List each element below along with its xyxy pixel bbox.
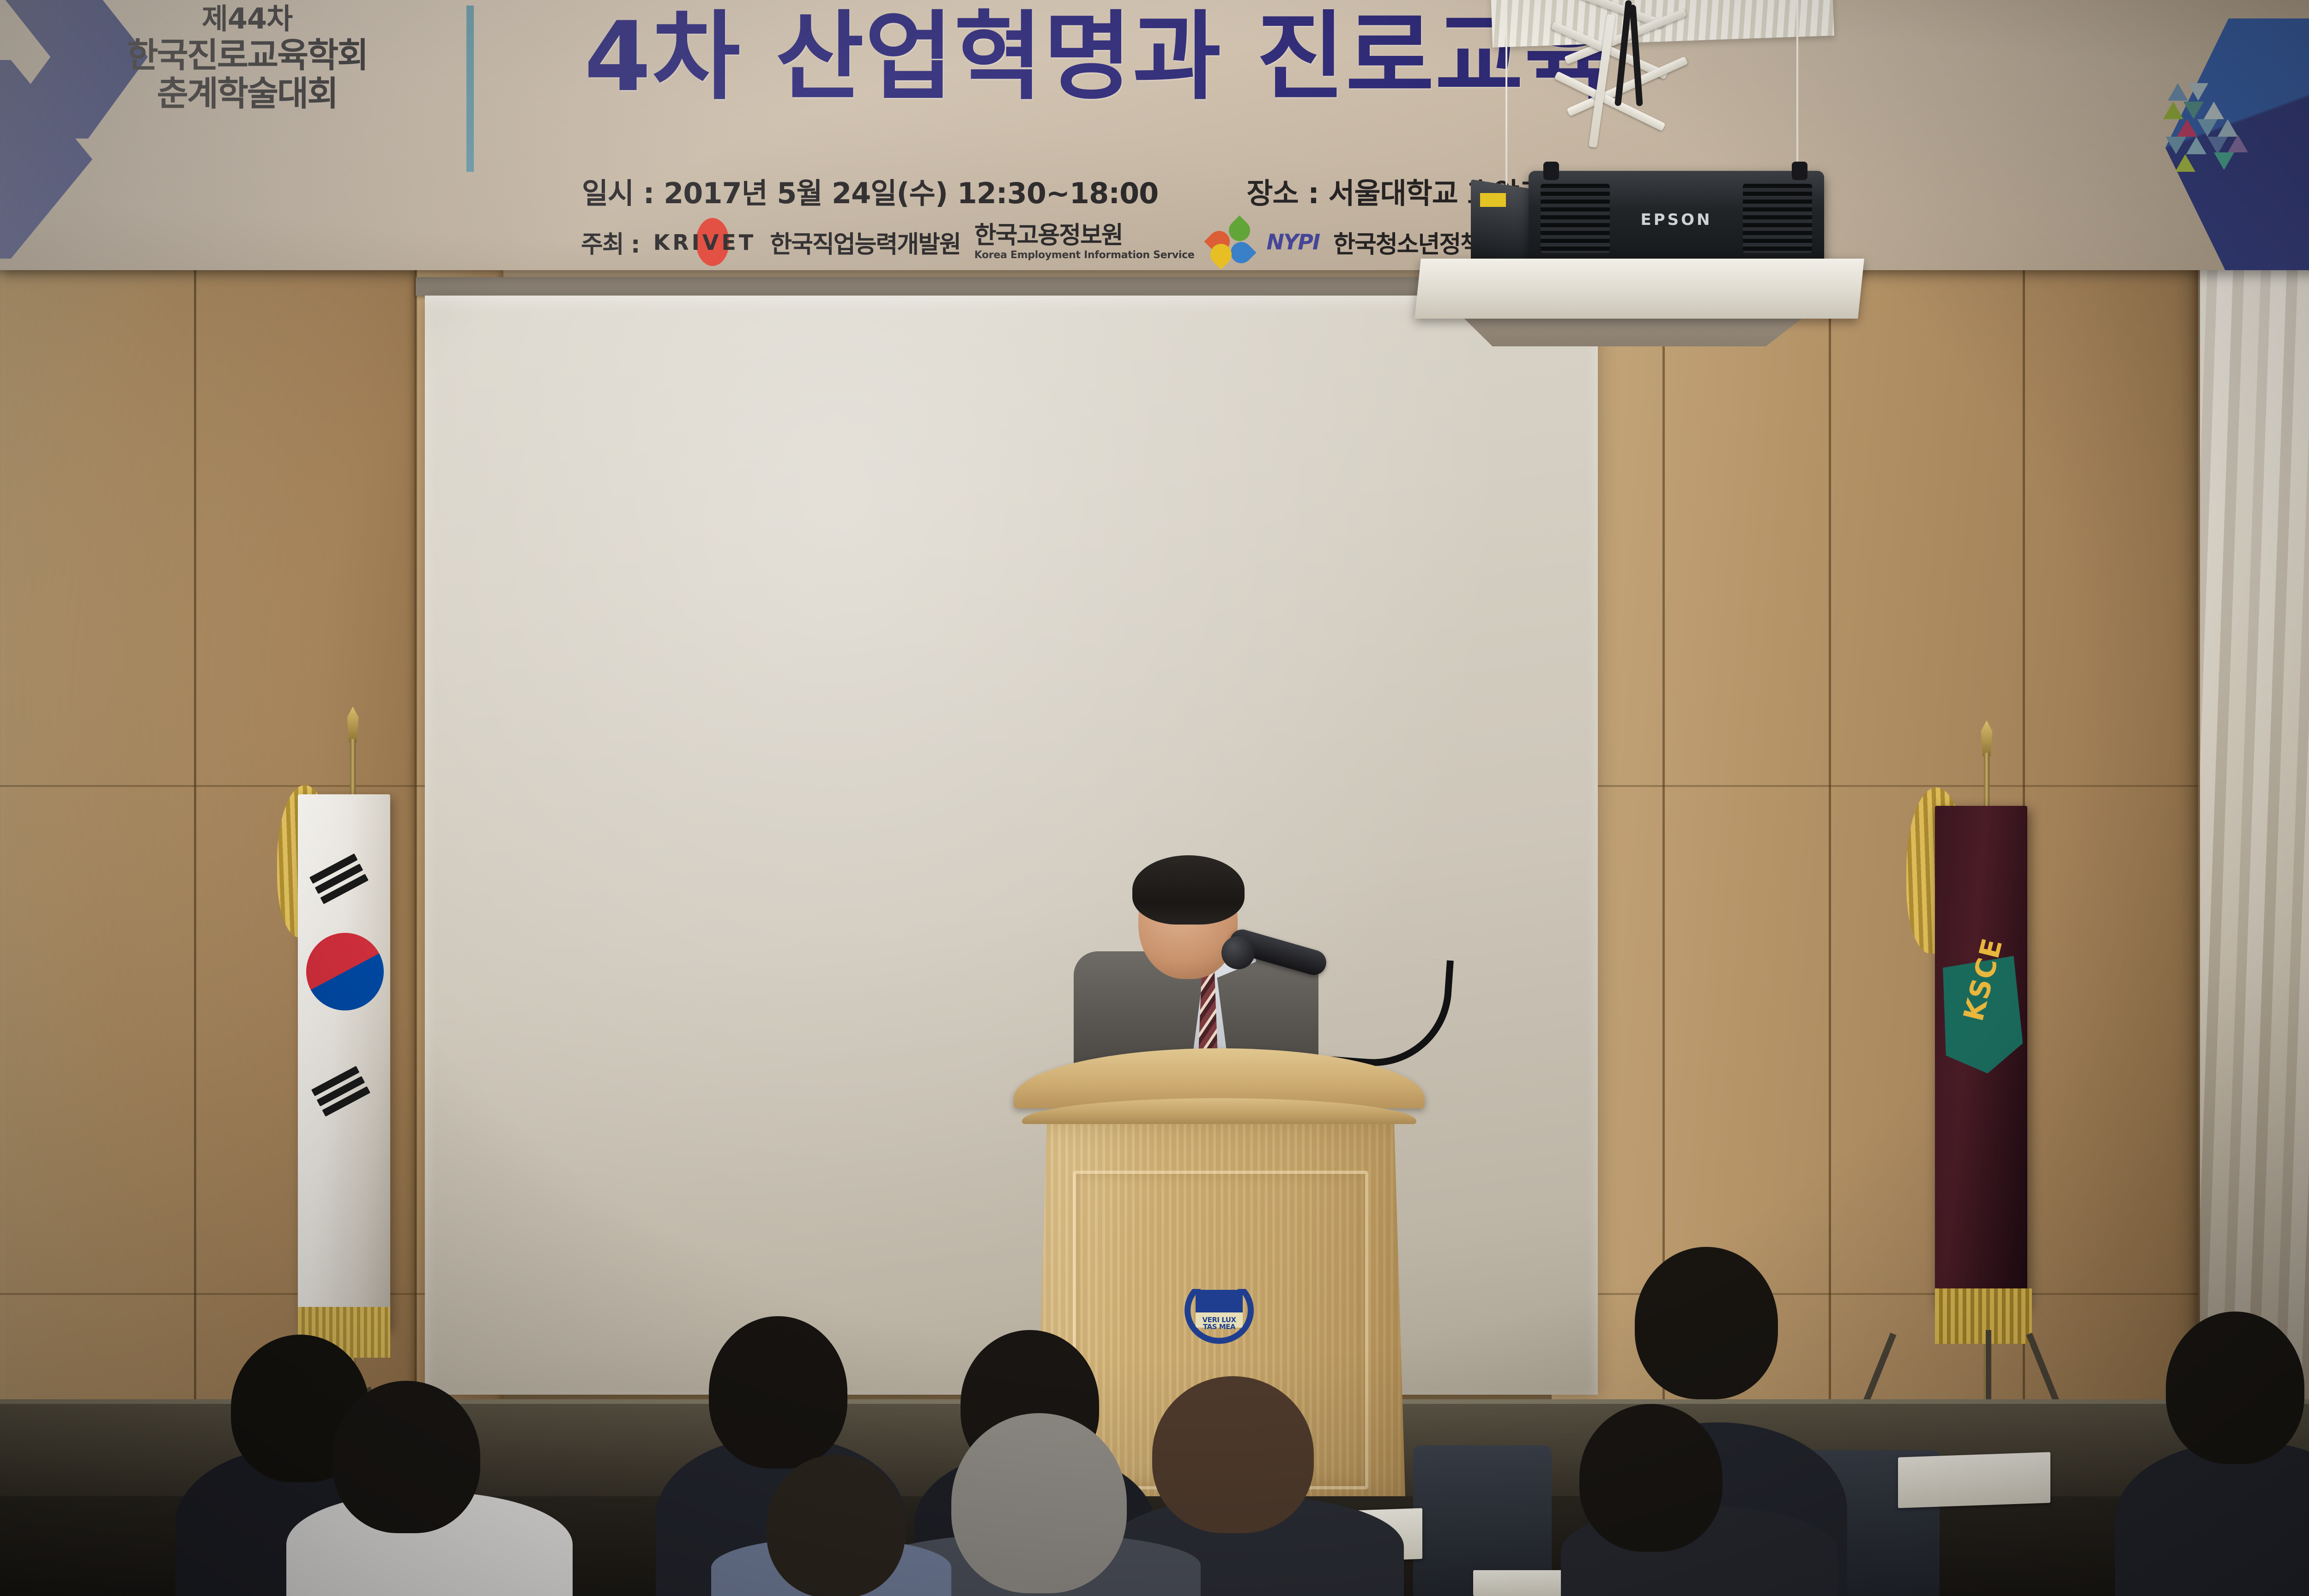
panel-seam-2 [415, 270, 417, 1411]
emblem-motto: VERI LUX TAS MEA [1196, 1317, 1243, 1331]
panel-hseam-1 [1552, 785, 2198, 787]
scissor-lift-mount [1542, 0, 1741, 175]
host-subtitle-keis: Korea Employment Information Service [974, 250, 1195, 260]
keis-block: 한국고용정보원 Korea Employment Information Ser… [974, 224, 1195, 260]
banner-date-label: 일시 : [582, 176, 654, 210]
korean-national-flag [298, 794, 390, 1330]
emblem-motto-l2: TAS [1203, 1323, 1217, 1331]
nypi-wordmark: NYPI [1267, 230, 1320, 254]
conference-photo: 제44차 한국진로교육학회 춘계학술대회 4차 산업혁명과 진로교육 일시 : … [0, 0, 2309, 1596]
university-emblem: VERI LUX TAS MEA [1185, 1277, 1254, 1344]
banner-date-value: 2017년 5월 24일(수) 12:30~18:00 [664, 176, 1158, 210]
projector: EPSON [1529, 171, 1824, 266]
keis-petal-icon [1209, 220, 1253, 264]
panel-seam-3 [1662, 270, 1665, 1411]
trigram-gon [311, 1066, 370, 1117]
audience-head [332, 1381, 480, 1533]
banner-event-name: 춘계학술대회 [95, 75, 399, 113]
name-card-2 [1898, 1452, 2050, 1508]
microphone-capsule [1221, 936, 1255, 969]
panel-seam-1 [194, 270, 196, 1411]
projector-foot-right [1792, 162, 1807, 180]
flag-fringe-right [1935, 1288, 2032, 1344]
projector-foot-left [1543, 162, 1559, 180]
banner-meta-line: 일시 : 2017년 5월 24일(수) 12:30~18:00 장소 : 서울… [582, 170, 2060, 212]
audience-head [1635, 1247, 1778, 1399]
projector-brand-label: EPSON [1529, 211, 1824, 229]
banner-hosts-row: 주최 : KRIVET 한국직업능력개발원 한국고용정보원 Korea Empl… [581, 220, 2105, 264]
panel-seam-4 [1829, 270, 1831, 1411]
audience-head [767, 1455, 905, 1596]
banner-venue-label: 장소 : [1246, 176, 1318, 210]
audience-head [2166, 1312, 2304, 1464]
banner-divider [466, 6, 474, 172]
event-banner: 제44차 한국진로교육학회 춘계학술대회 4차 산업혁명과 진로교육 일시 : … [0, 0, 2309, 270]
banner-mosaic-pattern [2163, 83, 2255, 175]
projector-shelf [1414, 259, 1864, 319]
banner-hosts-label: 주최 : [581, 225, 640, 260]
wood-panel-right [1552, 270, 2198, 1411]
banner-organization: 한국진로교육학회 [95, 36, 399, 75]
host-name-keis: 한국고용정보원 [974, 224, 1195, 248]
trigram-geon [309, 853, 369, 904]
audience-head [951, 1413, 1127, 1593]
krivet-wordmark: KRIVET [653, 230, 756, 255]
audience-head [709, 1316, 847, 1469]
banner-left-block: 제44차 한국진로교육학회 춘계학술대회 [95, 4, 399, 113]
emblem-motto-l4: MEA [1219, 1323, 1235, 1331]
krivet-logo: KRIVET [653, 228, 756, 256]
ksce-society-flag: KSCE [1935, 806, 2027, 1309]
projector-warning-label [1480, 193, 1506, 207]
banner-ordinal: 제44차 [95, 4, 399, 34]
taeguk-symbol [292, 919, 397, 1024]
audience-head [1152, 1376, 1314, 1533]
host-name-krivet: 한국직업능력개발원 [770, 225, 961, 260]
speaker-hair [1132, 855, 1245, 925]
audience-head [1579, 1404, 1723, 1552]
